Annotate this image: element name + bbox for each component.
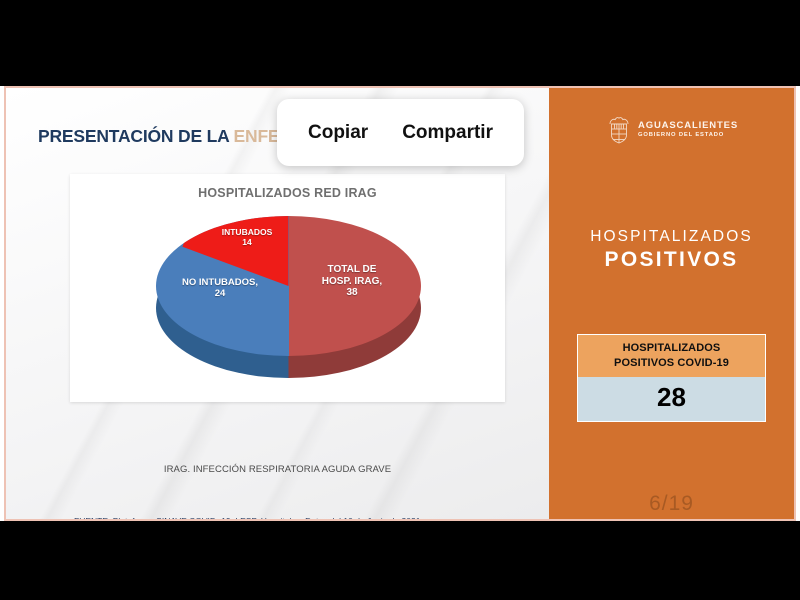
stat-card-value: 28 <box>578 377 765 421</box>
share-menu-item[interactable]: Compartir <box>402 122 493 144</box>
stat-card-header-line2: POSITIVOS COVID-19 <box>582 356 761 371</box>
panel-heading-line1: HOSPITALIZADOS <box>549 228 794 246</box>
panel-heading: HOSPITALIZADOS POSITIVOS <box>549 228 794 272</box>
chart-footnote: IRAG. INFECCIÓN RESPIRATORIA AGUDA GRAVE <box>6 464 549 475</box>
copy-menu-item[interactable]: Copiar <box>308 122 368 144</box>
pie-label-no-intubados-value: 24 <box>168 289 272 300</box>
stat-card-hospitalizados-positivos: HOSPITALIZADOS POSITIVOS COVID-19 28 <box>577 334 766 422</box>
pie-label-total-hosp-irag: TOTAL DE HOSP. IRAG, 38 <box>304 264 400 299</box>
pie-label-intubados-value: 14 <box>204 238 290 248</box>
pie-label-total-line2: HOSP. IRAG, <box>304 276 400 288</box>
page-title-secondary: ENFE <box>234 126 280 146</box>
coat-of-arms-icon <box>607 115 631 145</box>
government-logo: AGUASCALIENTES GOBIERNO DEL ESTADO <box>607 115 738 145</box>
pie-label-total-value: 38 <box>304 287 400 299</box>
page-title-primary: PRESENTACIÓN DE LA <box>38 126 234 146</box>
page-indicator: 6/19 <box>549 492 794 516</box>
stat-card-header: HOSPITALIZADOS POSITIVOS COVID-19 <box>578 335 765 377</box>
source-footnote: FUENTE. Plataforma SINAVE COVID.-19, LES… <box>74 516 420 519</box>
chart-title: HOSPITALIZADOS RED IRAG <box>70 186 505 200</box>
page-title: PRESENTACIÓN DE LA ENFE <box>38 126 279 147</box>
context-menu[interactable]: Copiar Compartir <box>277 99 524 166</box>
pie-label-total-line1: TOTAL DE <box>304 264 400 276</box>
stat-card-header-line1: HOSPITALIZADOS <box>582 341 761 356</box>
government-logo-text: AGUASCALIENTES GOBIERNO DEL ESTADO <box>638 121 738 138</box>
government-logo-name: AGUASCALIENTES <box>638 121 738 132</box>
government-logo-subtitle: GOBIERNO DEL ESTADO <box>638 132 738 138</box>
panel-heading-line2: POSITIVOS <box>549 248 794 272</box>
pie-chart: INTUBADOS 14 NO INTUBADOS, 24 TOTAL DE H… <box>156 216 421 388</box>
pie-label-intubados: INTUBADOS 14 <box>204 228 290 248</box>
screenshot-root: PRESENTACIÓN DE LA ENFE HOSPITALIZADOS R… <box>0 0 800 600</box>
pie-label-no-intubados: NO INTUBADOS, 24 <box>168 278 272 300</box>
orange-side-panel: AGUASCALIENTES GOBIERNO DEL ESTADO HOSPI… <box>549 88 794 519</box>
chart-card: HOSPITALIZADOS RED IRAG INTUBADOS 14 NO … <box>70 174 505 402</box>
